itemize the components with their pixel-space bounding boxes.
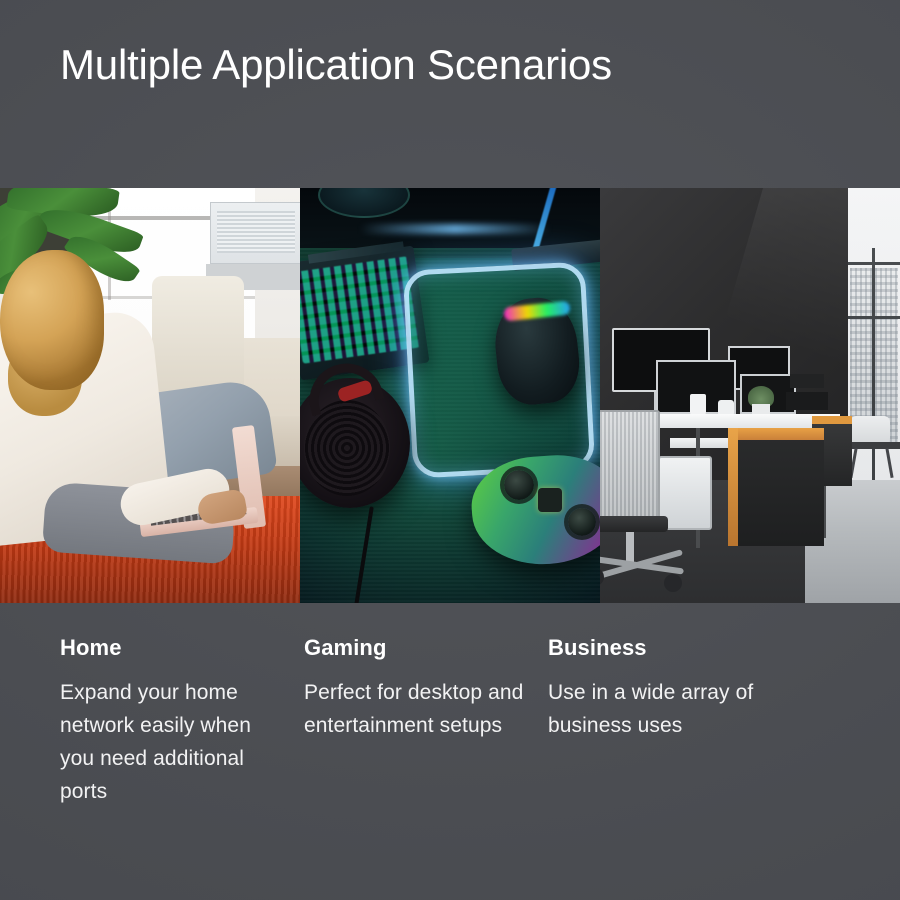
- desk-box-shape: [790, 374, 824, 388]
- caption-heading-business: Business: [548, 636, 840, 660]
- air-conditioner-shape: [210, 202, 300, 264]
- scenario-captions: Home Expand your home network easily whe…: [0, 636, 900, 808]
- caption-home: Home Expand your home network easily whe…: [0, 636, 272, 808]
- cabinet-wood-side: [728, 428, 738, 546]
- caption-body-business: Use in a wide array of business uses: [548, 676, 798, 742]
- coffee-cup-shape: [690, 394, 706, 416]
- scenario-image-home: [0, 188, 300, 603]
- caption-gaming: Gaming Perfect for desktop and entertain…: [272, 636, 544, 808]
- scenario-image-gaming: [300, 188, 600, 603]
- caption-body-gaming: Perfect for desktop and entertainment se…: [304, 676, 536, 742]
- caption-heading-home: Home: [60, 636, 272, 660]
- page-title: Multiple Application Scenarios: [60, 42, 612, 88]
- controller-left-stick: [504, 470, 534, 500]
- curly-hair-shape: [0, 250, 104, 390]
- chair-seat-shape: [600, 516, 668, 532]
- caption-business: Business Use in a wide array of business…: [544, 636, 840, 808]
- caption-body-home: Expand your home network easily when you…: [60, 676, 272, 808]
- ambient-glow: [360, 224, 550, 234]
- caption-heading-gaming: Gaming: [304, 636, 544, 660]
- chair-wheel: [664, 574, 682, 592]
- desk-box-shape: [786, 392, 828, 410]
- application-scenarios-page: Multiple Application Scenarios: [0, 0, 900, 900]
- controller-dpad: [538, 488, 562, 512]
- cabinet-wood-trim: [728, 428, 824, 440]
- scenario-image-band: [0, 188, 900, 603]
- mesh-chair-back-shape: [600, 410, 660, 520]
- scenario-image-business: [600, 188, 900, 603]
- sofa-cushion-shape: [152, 276, 244, 396]
- lounge-sofa-shape: [850, 416, 890, 444]
- office-cabinet-shape: [728, 428, 824, 546]
- controller-right-stick: [568, 508, 596, 536]
- cabinet-wood-trim: [812, 416, 852, 424]
- rgb-keycaps: [300, 256, 420, 364]
